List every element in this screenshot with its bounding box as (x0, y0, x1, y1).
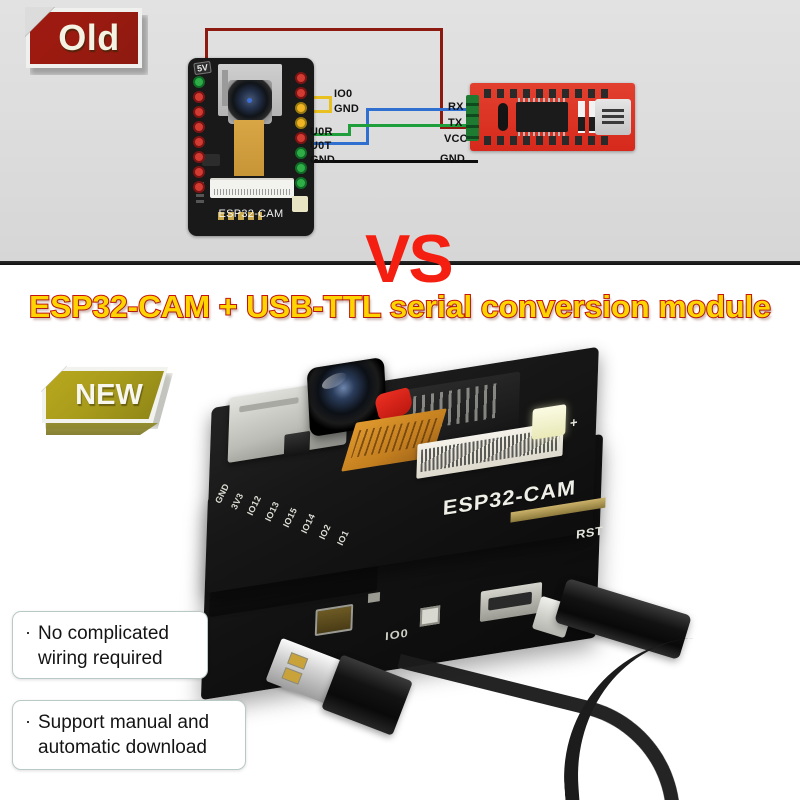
diagram-pin (295, 147, 307, 159)
diagram-pin (193, 121, 205, 133)
diagram-5v-label: 5V (193, 61, 212, 75)
ttl-top-holes (484, 89, 610, 98)
diagram-pin (295, 87, 307, 99)
new-badge: NEW (42, 367, 172, 427)
diagram-pin (193, 91, 205, 103)
usb-ttl-module (470, 83, 635, 151)
diagram-esp32-board: 5V ESP32-CAM (188, 58, 314, 236)
diagram-pin (295, 177, 307, 189)
diagram-camera-ribbon (234, 120, 264, 176)
diagram-pin (193, 136, 205, 148)
feature-text: No complicated wiring required (38, 621, 193, 671)
ttl-mini-usb-connector (595, 99, 631, 135)
base-component-small (368, 592, 380, 603)
feature-bullet-icon: · (25, 710, 31, 733)
ttl-bottom-holes (484, 136, 610, 145)
wire-io0-jumper-v (329, 96, 332, 113)
diagram-pin (295, 72, 307, 84)
diagram-pin (295, 162, 307, 174)
new-badge-label: NEW (42, 367, 168, 423)
diagram-pin (193, 151, 205, 163)
feature-bullet-icon: · (25, 621, 31, 644)
diagram-left-pin-column (193, 76, 207, 196)
ttl-pin-header (466, 95, 479, 141)
diagram-pin (295, 117, 307, 129)
diagram-board-name: ESP32-CAM (188, 208, 314, 220)
label-gnd-ttl: GND (440, 153, 465, 165)
label-rx: RX (448, 101, 464, 113)
led-plus-marking: + (570, 414, 578, 430)
label-gnd-bottom: GND (310, 154, 335, 166)
diagram-pin (193, 106, 205, 118)
headline-title: ESP32-CAM + USB-TTL serial conversion mo… (0, 291, 800, 322)
wire-5v-drop (440, 28, 443, 128)
diagram-camera-lens (228, 80, 272, 124)
diagram-pin (193, 166, 205, 178)
label-gnd-top: GND (334, 103, 359, 115)
diagram-pin (193, 181, 205, 193)
ttl-ic-chip (516, 102, 568, 132)
board-button (284, 431, 310, 457)
label-io0: IO0 (334, 88, 352, 100)
old-badge: Old (26, 8, 144, 70)
feature-text: Support manual and automatic download (38, 710, 231, 760)
label-u0r: U0R (310, 126, 333, 138)
wire-5v-top-run (205, 28, 443, 31)
old-badge-label: Old (26, 8, 142, 68)
vs-label: VS (365, 225, 452, 293)
product-comparison-image: Old 5V (0, 0, 800, 800)
ttl-capacitor (498, 103, 508, 131)
diagram-pin (295, 132, 307, 144)
flash-led (532, 404, 567, 440)
label-vcc: VCC (444, 133, 468, 145)
diagram-right-pin-column (295, 72, 309, 192)
label-u0t: U0T (310, 140, 331, 152)
diagram-pin (295, 102, 307, 114)
new-badge-tail (46, 423, 158, 435)
label-tx: TX (448, 117, 462, 129)
feature-box-wiring: · No complicated wiring required (12, 611, 208, 679)
diagram-ffc-connector (210, 178, 294, 198)
feature-box-download: · Support manual and automatic download (12, 700, 246, 770)
diagram-pin (193, 76, 205, 88)
base-component-white (420, 605, 440, 626)
